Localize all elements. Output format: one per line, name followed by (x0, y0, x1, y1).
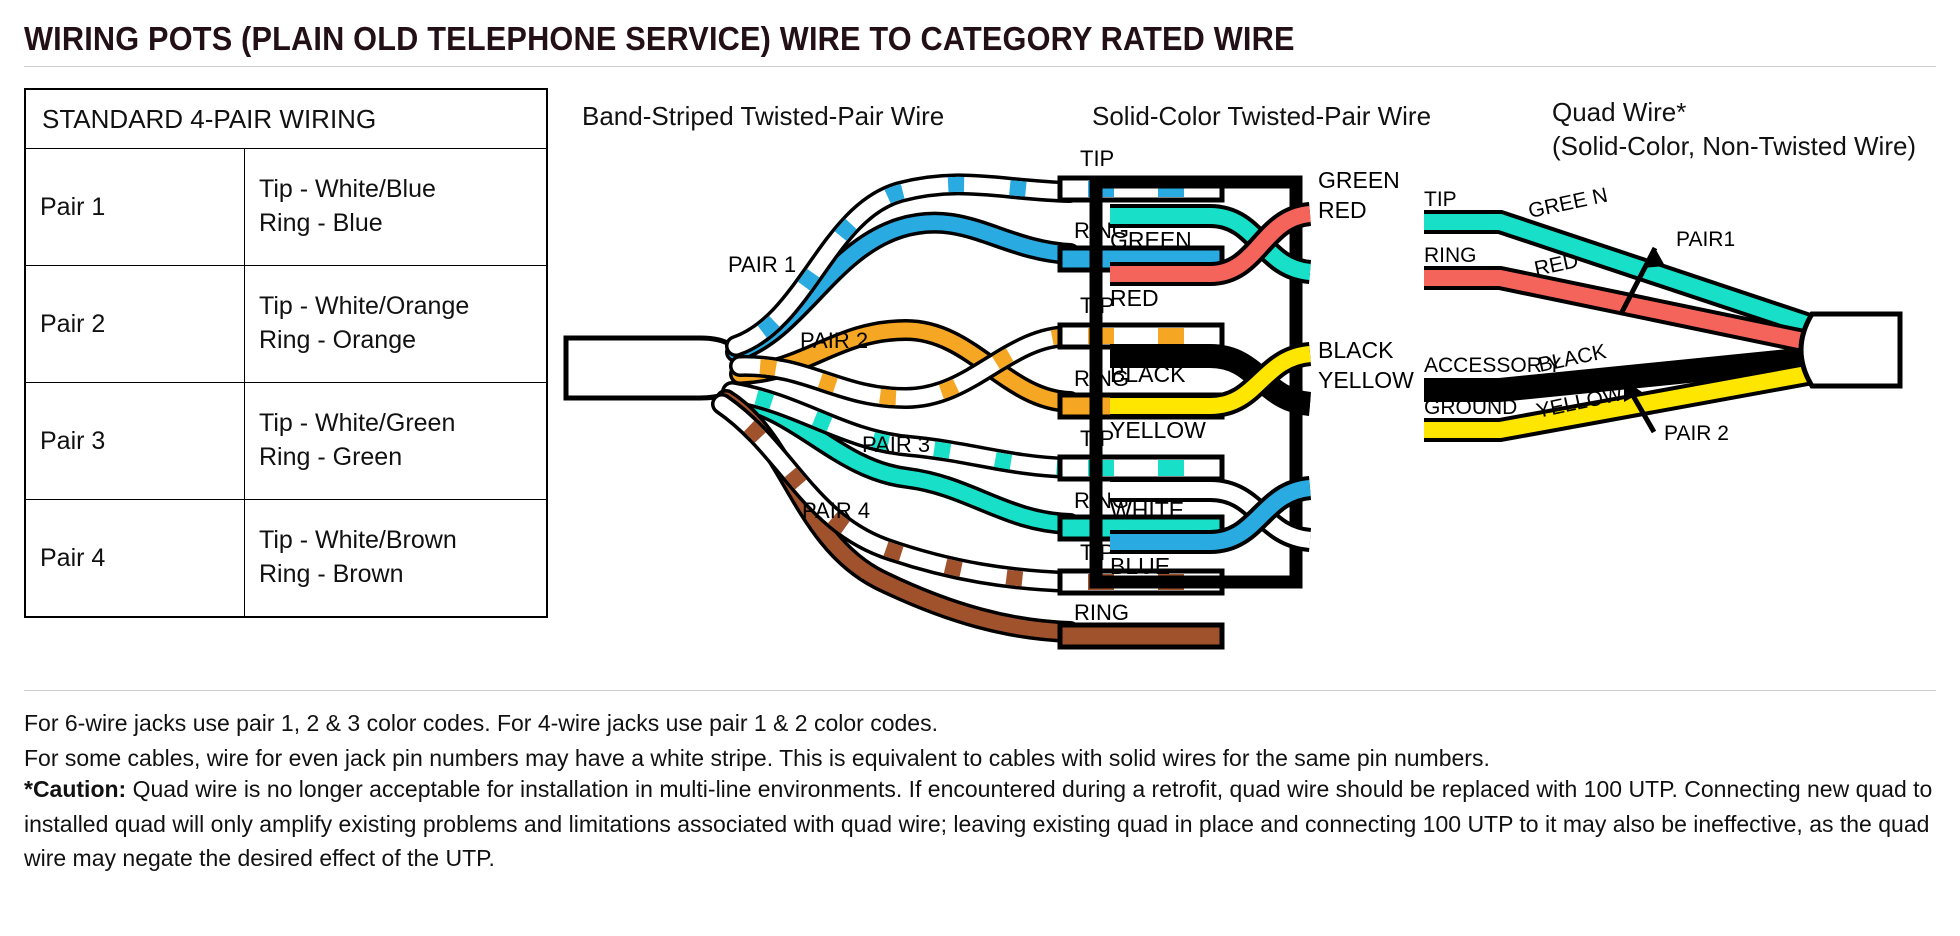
solid-out-label-red: RED (1318, 197, 1367, 223)
caution-label: *Caution: (24, 776, 126, 802)
solid-out-label-yellow: YELLOW (1318, 367, 1414, 393)
quad-pair1-label: PAIR1 (1676, 228, 1735, 251)
solid-out-label-green: GREEN (1318, 167, 1400, 193)
pair-1-label: PAIR 1 (728, 252, 796, 277)
pair-4-ring-label: RING (1074, 600, 1129, 625)
footer-notes: For 6-wire jacks use pair 1, 2 & 3 color… (24, 706, 1490, 775)
caution-text: Quad wire is no longer acceptable for in… (24, 776, 1932, 871)
wiring-diagram-page: WIRING POTS (PLAIN OLD TELEPHONE SERVICE… (0, 0, 1960, 936)
footer-line-2: For some cables, wire for even jack pin … (24, 741, 1490, 776)
pair-1-tip-label: TIP (1080, 146, 1114, 171)
divider-bottom (24, 690, 1936, 691)
solid-out-label-black: BLACK (1318, 337, 1394, 363)
solid-label-blue: BLUE (1110, 553, 1170, 579)
solid-label-green: GREEN (1110, 227, 1192, 253)
quad-color-green: GREE N (1526, 184, 1610, 223)
solid-label-black: BLACK (1110, 361, 1186, 387)
solid-label-yellow: YELLOW (1110, 417, 1206, 443)
quad-role-ground: GROUND (1424, 396, 1517, 419)
quad-role-tip: TIP (1424, 188, 1457, 211)
solid-label-white: WHITE (1110, 497, 1184, 523)
quad-pair2-label: PAIR 2 (1664, 422, 1729, 445)
caution-note: *Caution: Quad wire is no longer accepta… (24, 772, 1934, 876)
quad-wire: TIP RING ACCESSOR Y GROUND GREE N RED BL… (1424, 184, 1900, 445)
solid-label-red: RED (1110, 285, 1159, 311)
cable-jacket (566, 338, 742, 398)
solid-color-box: GREEN RED GREEN RED BLACK YELLOW BLACK Y… (1096, 167, 1414, 582)
pair-2-label: PAIR 2 (800, 328, 868, 353)
footer-line-1: For 6-wire jacks use pair 1, 2 & 3 color… (24, 706, 1490, 741)
pair-3-label: PAIR 3 (862, 432, 930, 457)
quad-color-red: RED (1532, 249, 1580, 281)
quad-role-ring: RING (1424, 244, 1477, 267)
pair-4-label: PAIR 4 (802, 498, 870, 523)
